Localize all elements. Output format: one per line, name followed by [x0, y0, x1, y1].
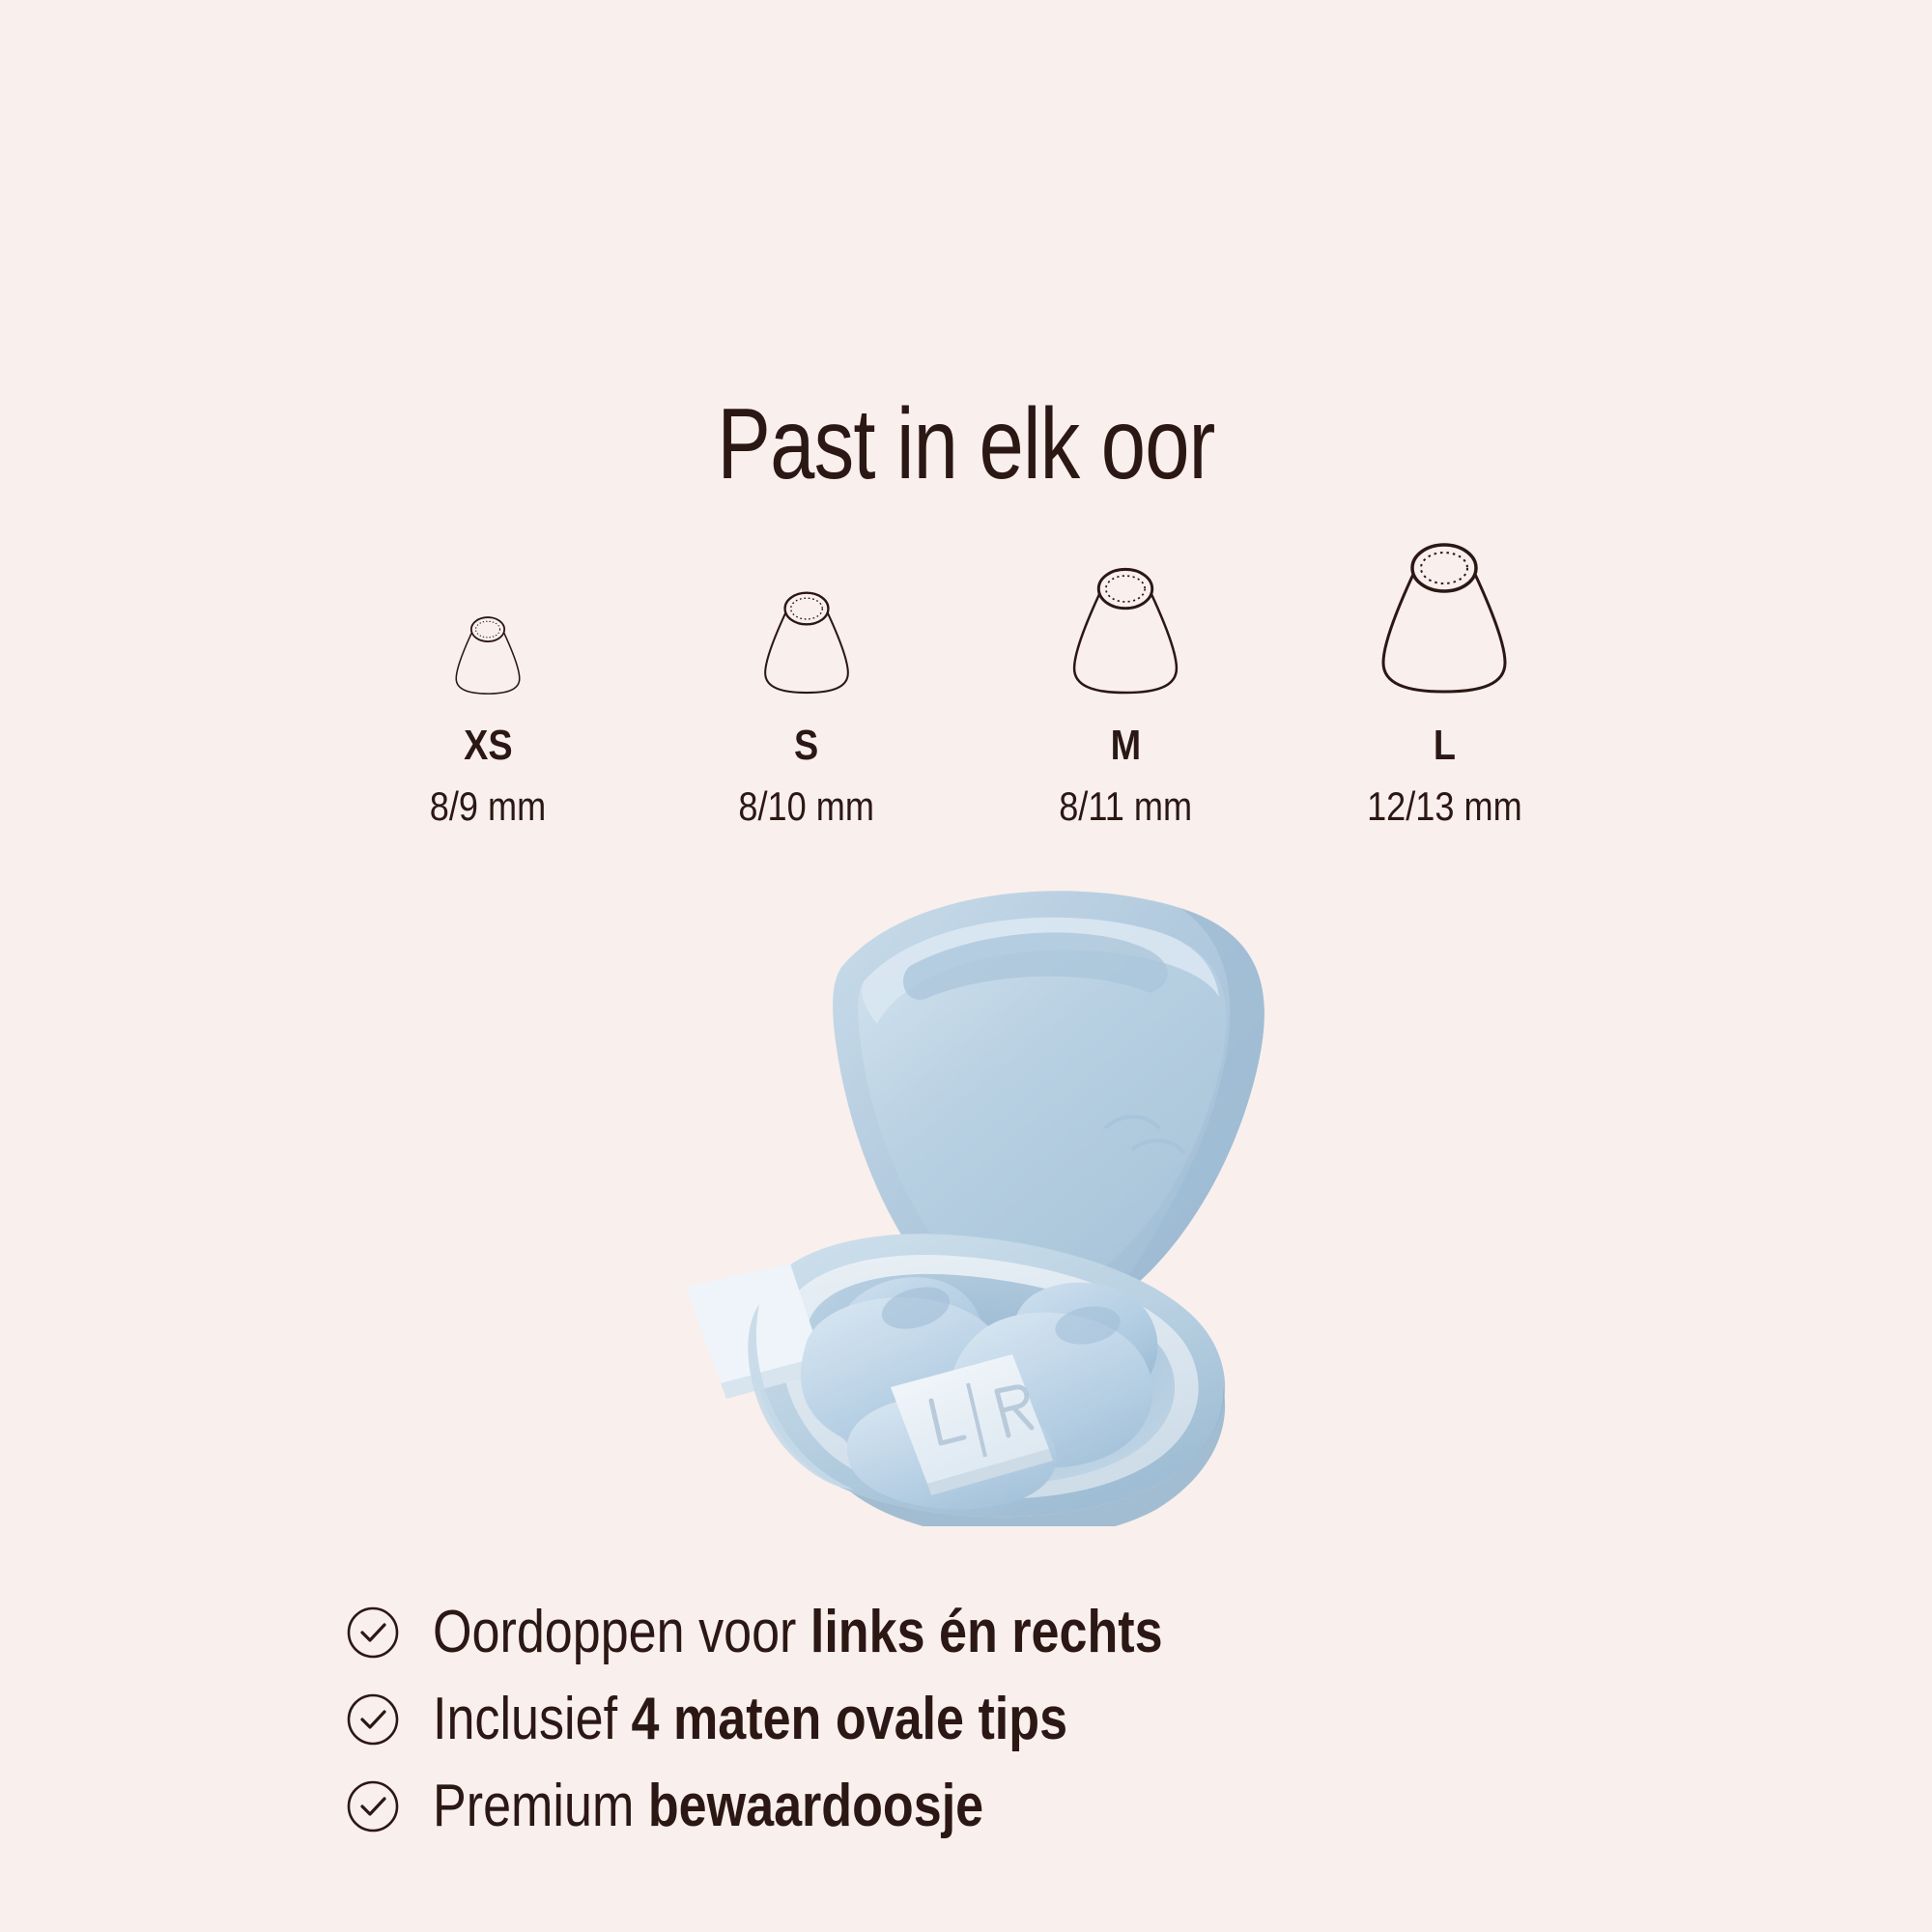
- ear-tip-size-label: M: [1110, 724, 1141, 767]
- ear-tip-illustration: [450, 541, 526, 696]
- ear-tip-size-label: S: [794, 724, 818, 767]
- ear-tip-measurement: 12/13 mm: [1367, 786, 1522, 827]
- ear-tip-size-row: XS8/9 mmS8/10 mmM8/11 mmL12/13 mm: [377, 541, 1555, 827]
- check-circle-icon: [346, 1779, 400, 1833]
- case-body: [686, 1234, 1225, 1526]
- check-circle-icon: [346, 1692, 400, 1747]
- ear-tip-size-m: M8/11 mm: [1014, 541, 1236, 827]
- ear-tip-size-label: L: [1433, 724, 1455, 767]
- page-title: Past in elk oor: [193, 394, 1739, 495]
- ear-tip-shape: [450, 615, 526, 696]
- feature-text-emphasis: bewaardoosje: [648, 1773, 983, 1839]
- ear-tip-size-s: S8/10 mm: [696, 541, 918, 827]
- feature-text-emphasis: 4 maten ovale tips: [632, 1686, 1068, 1752]
- feature-text-regular: Premium: [433, 1773, 648, 1839]
- feature-text-regular: Oordoppen voor: [433, 1599, 810, 1665]
- ear-tip-measurement: 8/9 mm: [430, 786, 546, 827]
- ear-tip-measurement: 8/10 mm: [739, 786, 875, 827]
- ear-tip-shape: [757, 590, 856, 696]
- feature-text-emphasis: links én rechts: [810, 1599, 1163, 1665]
- ear-tip-size-label: XS: [464, 724, 512, 767]
- ear-tip-shape: [1372, 541, 1517, 696]
- ear-tip-shape: [1065, 566, 1186, 696]
- ear-tip-illustration: [757, 541, 856, 696]
- ear-tip-illustration: [1065, 541, 1186, 696]
- check-circle-icon: [346, 1605, 400, 1660]
- check-circle-icon: [346, 1692, 400, 1747]
- feature-item: Oordoppen voor links én rechts: [346, 1589, 1602, 1676]
- ear-tip-measurement: 8/11 mm: [1059, 786, 1192, 827]
- feature-item: Inclusief 4 maten ovale tips: [346, 1676, 1602, 1763]
- ear-tip-illustration: [1372, 541, 1517, 696]
- feature-item-label: Premium bewaardoosje: [433, 1776, 983, 1836]
- ear-tip-size-xs: XS8/9 mm: [377, 541, 599, 827]
- feature-item: Premium bewaardoosje: [346, 1763, 1602, 1850]
- feature-item-label: Oordoppen voor links én rechts: [433, 1603, 1163, 1662]
- check-circle-icon: [346, 1605, 400, 1660]
- feature-text-regular: Inclusief: [433, 1686, 632, 1752]
- ear-tip-size-l: L12/13 mm: [1333, 541, 1555, 827]
- infographic-canvas: Past in elk oor XS8/9 mmS8/10 mmM8/11 mm…: [0, 0, 1932, 1932]
- check-circle-icon: [346, 1779, 400, 1833]
- feature-list: Oordoppen voor links én rechtsInclusief …: [346, 1589, 1602, 1850]
- feature-item-label: Inclusief 4 maten ovale tips: [433, 1690, 1067, 1749]
- product-image-earplug-case: [531, 850, 1401, 1526]
